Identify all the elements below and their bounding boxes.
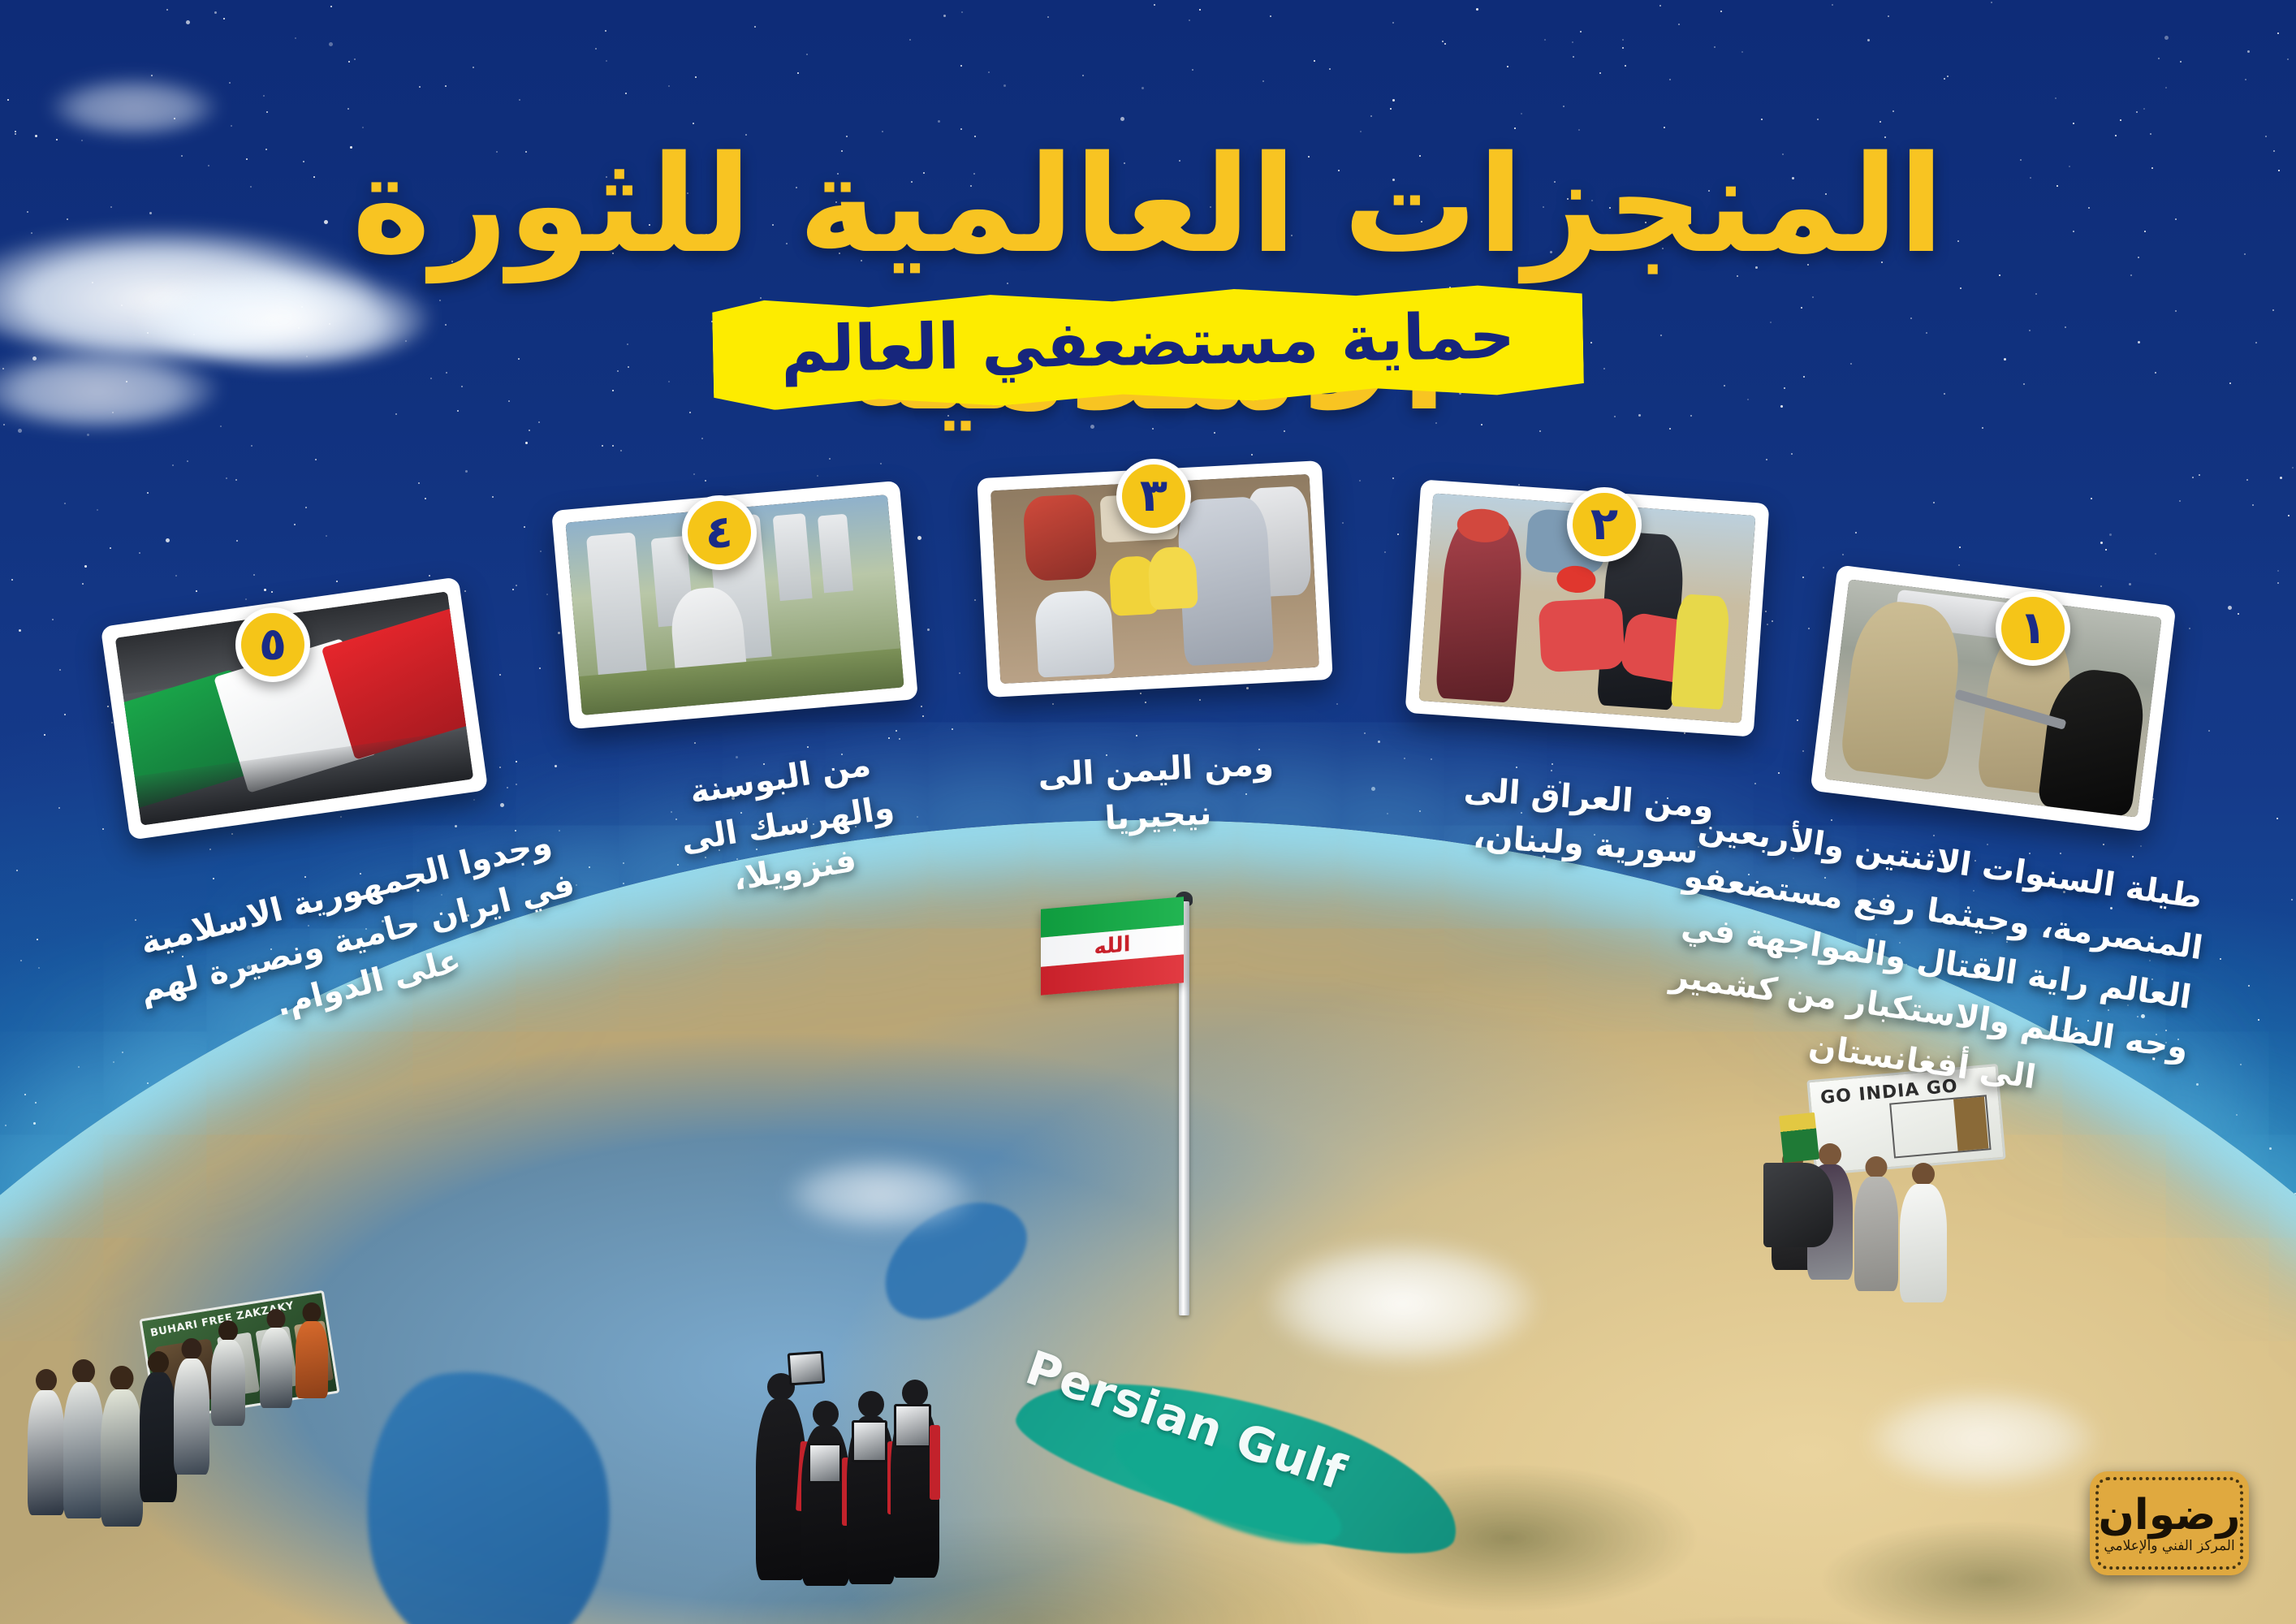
protester-figure — [260, 1309, 292, 1408]
bahrain-women-protest-group — [751, 1344, 962, 1587]
protester-figure — [296, 1302, 328, 1398]
card-caption-3: ومن اليمن الى نيجيريا — [984, 738, 1329, 848]
portrait-placard — [852, 1420, 887, 1462]
subtitle-text: حماية مستضعفي العالم — [712, 283, 1584, 412]
nigeria-zakzaky-protest-group: BUHARI FREE ZAKZAKY — [16, 1291, 341, 1559]
card-badge-3: ٣ — [1116, 459, 1191, 533]
protester-figure — [891, 1380, 939, 1578]
card-badge-2: ٢ — [1567, 487, 1642, 562]
protester-figure — [1854, 1156, 1898, 1291]
portrait-placard — [894, 1404, 931, 1448]
subtitle-ribbon: حماية مستضعفي العالم — [712, 283, 1584, 412]
protester-figure — [140, 1351, 177, 1502]
portrait-placard — [808, 1443, 842, 1484]
placard-blackout — [1953, 1097, 1988, 1151]
iran-emblem-icon: الله — [1094, 934, 1130, 958]
photo-card-1[interactable] — [1810, 564, 2177, 831]
red-sash — [930, 1425, 940, 1500]
portrait-placard — [788, 1351, 826, 1386]
protester-figure — [801, 1401, 850, 1586]
kashmir-flag — [1779, 1112, 1819, 1163]
protester-figure — [756, 1373, 806, 1580]
protester-figure — [63, 1359, 104, 1518]
logo-subtitle: المركز الفني والإعلامي — [2104, 1540, 2234, 1553]
protester-figure — [1900, 1163, 1947, 1302]
protester-figure — [28, 1369, 65, 1515]
pakistan-police-women-photo — [1824, 579, 2161, 817]
protester-figure — [211, 1320, 245, 1426]
card-badge-4: ٤ — [682, 495, 757, 570]
publisher-logo[interactable]: رضوان المركز الفني والإعلامي — [2090, 1471, 2249, 1575]
iran-flag: الله — [1041, 896, 1184, 995]
poster-canvas: Persian Gulf المنجزات العالمية للثورة ال… — [0, 0, 2296, 1624]
protester-figure — [174, 1338, 209, 1475]
card-badge-5: ٥ — [235, 607, 310, 682]
protester-figure — [101, 1366, 143, 1527]
card-badge-1: ١ — [1996, 591, 2070, 666]
logo-wordmark: رضوان — [2099, 1494, 2241, 1536]
black-flag — [1763, 1163, 1833, 1247]
kashmir-protest-group: GO INDIA GO — [1763, 1072, 2039, 1299]
protester-figure — [847, 1391, 896, 1584]
